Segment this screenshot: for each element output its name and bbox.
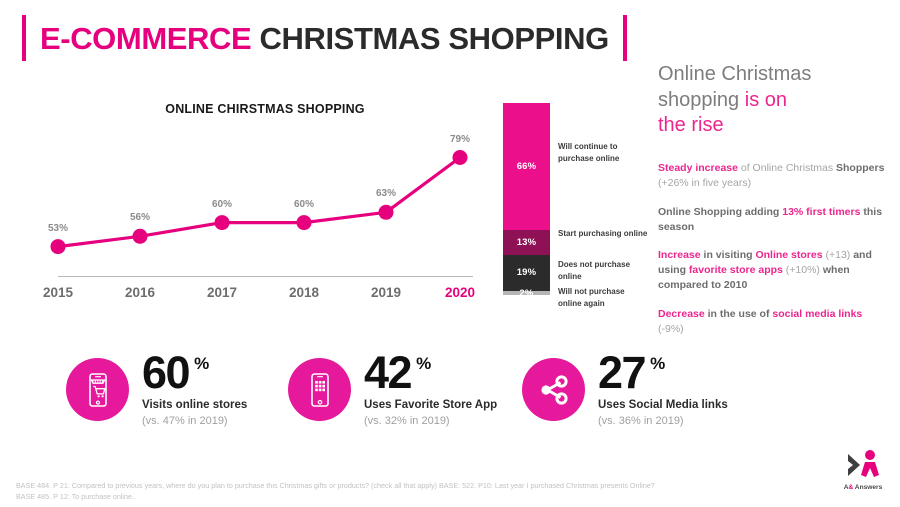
insights-heading-line3-accent: the rise bbox=[658, 114, 724, 136]
page-title: E-COMMERCE CHRISTMAS SHOPPING bbox=[40, 23, 609, 54]
x-axis-label-2017: 2017 bbox=[207, 285, 237, 300]
stat-body: 27%Uses Social Media links(vs. 36% in 20… bbox=[598, 352, 728, 427]
insights-bullet-fragment: Increase bbox=[658, 249, 701, 261]
stat-label: Uses Favorite Store App bbox=[364, 399, 497, 411]
insights-bullet-fragment: of Online Christmas bbox=[738, 162, 836, 174]
stacked-bar-segment[interactable]: 2% bbox=[503, 291, 550, 295]
insights-bullet-list: Steady increase of Online Christmas Shop… bbox=[658, 161, 888, 337]
insights-heading-line2-accent: is on bbox=[745, 89, 787, 111]
insights-bullet-fragment: Decrease bbox=[658, 308, 705, 320]
insights-heading-line2: shopping bbox=[658, 89, 739, 111]
stacked-bar-legend-item: Will not purchase online again bbox=[558, 286, 650, 309]
x-axis-label-2015: 2015 bbox=[43, 285, 73, 300]
stacked-bar: 66%13%19%2% bbox=[503, 103, 550, 295]
line-chart-point-label: 79% bbox=[450, 134, 470, 145]
x-axis-label-2016: 2016 bbox=[125, 285, 155, 300]
stacked-bar-segment-value: 19% bbox=[517, 267, 537, 278]
stat-number-row: 42% bbox=[364, 352, 497, 393]
insights-bullet-fragment: (+26% in five years) bbox=[658, 177, 751, 189]
insights-bullet-fragment: (+13) bbox=[823, 249, 854, 261]
brand-logo: A& Answers bbox=[838, 448, 888, 496]
line-chart-point[interactable] bbox=[297, 215, 312, 230]
insights-bullet-fragment: Steady increase bbox=[658, 162, 738, 174]
insights-bullet-fragment: Online Shopping adding bbox=[658, 206, 782, 218]
stacked-bar-panel: 66%13%19%2% Will continue to purchase on… bbox=[503, 103, 653, 303]
line-chart-panel: ONLINE CHIRSTMAS SHOPPING 53%56%60%60%63… bbox=[40, 95, 490, 310]
stat-number-row: 27% bbox=[598, 352, 728, 393]
stat-label: Uses Social Media links bbox=[598, 399, 728, 411]
stat-percent-sign: % bbox=[416, 355, 431, 372]
insights-bullet-fragment: Shoppers bbox=[836, 162, 884, 174]
stat-sublabel: (vs. 32% in 2019) bbox=[364, 415, 497, 427]
footer-notes: BASE 484. P 21: Compared to previous yea… bbox=[16, 480, 776, 502]
line-chart-plot bbox=[40, 125, 490, 280]
insights-bullet-fragment: (+10%) bbox=[783, 264, 823, 276]
insights-bullet-fragment: social media links bbox=[772, 308, 862, 320]
footer-line-2: BASE 485. P 12: To purchase online.. bbox=[16, 491, 776, 502]
stat-body: 60%Visits online stores(vs. 47% in 2019) bbox=[142, 352, 247, 427]
x-axis-tick-labels: 201520162017201820192020 bbox=[40, 283, 490, 307]
stat-number: 27 bbox=[598, 352, 645, 393]
line-chart-point[interactable] bbox=[215, 215, 230, 230]
insights-bullet-fragment: in the use of bbox=[705, 308, 773, 320]
insights-heading: Online Christmas shopping is on the rise bbox=[658, 62, 888, 139]
stacked-bar-legend-item: Does not purchase online bbox=[558, 259, 650, 282]
line-chart-point-label: 60% bbox=[212, 199, 232, 210]
insights-bullet-fragment: in visiting bbox=[701, 249, 756, 261]
line-chart-point[interactable] bbox=[453, 150, 468, 165]
stacked-bar-segment-value: 13% bbox=[517, 237, 537, 248]
mobile-app-grid-icon bbox=[288, 358, 351, 421]
line-chart-point-label: 60% bbox=[294, 199, 314, 210]
share-nodes-icon bbox=[522, 358, 585, 421]
brand-logo-rest: Answers bbox=[853, 484, 882, 491]
insights-bullet-fragment: Online stores bbox=[755, 249, 822, 261]
stat-label: Visits online stores bbox=[142, 399, 247, 411]
stacked-bar-segment-value: 2% bbox=[519, 288, 533, 299]
insights-bullet-fragment: favorite store apps bbox=[689, 264, 783, 276]
stats-row: 60%Visits online stores(vs. 47% in 2019)… bbox=[0, 352, 900, 452]
insights-bullet-fragment: (-9%) bbox=[658, 323, 684, 335]
line-chart-point-label: 56% bbox=[130, 212, 150, 223]
online-store-phone-icon bbox=[66, 358, 129, 421]
insights-heading-line1: Online Christmas bbox=[658, 63, 811, 85]
stacked-bar-segment[interactable]: 66% bbox=[503, 103, 550, 230]
insights-bullet: Increase in visiting Online stores (+13)… bbox=[658, 248, 888, 293]
insights-bullet: Decrease in the use of social media link… bbox=[658, 307, 888, 337]
line-chart-series-path bbox=[58, 158, 460, 247]
stacked-bar-legend-item: Start purchasing online bbox=[558, 228, 650, 240]
stat-sublabel: (vs. 36% in 2019) bbox=[598, 415, 728, 427]
stat-sublabel: (vs. 47% in 2019) bbox=[142, 415, 247, 427]
stat-card: 27%Uses Social Media links(vs. 36% in 20… bbox=[522, 352, 728, 427]
page-header: E-COMMERCE CHRISTMAS SHOPPING bbox=[0, 8, 660, 68]
stacked-bar-segment-value: 66% bbox=[517, 161, 537, 172]
line-chart-svg bbox=[40, 125, 490, 280]
page-title-pink: E-COMMERCE bbox=[40, 21, 251, 56]
stacked-bar-segment[interactable]: 13% bbox=[503, 230, 550, 255]
stat-percent-sign: % bbox=[650, 355, 665, 372]
insights-bullet-fragment: 13% first timers bbox=[782, 206, 860, 218]
insights-bullet: Online Shopping adding 13% first timers … bbox=[658, 205, 888, 235]
brand-logo-text: A& Answers bbox=[838, 484, 888, 491]
stat-body: 42%Uses Favorite Store App(vs. 32% in 20… bbox=[364, 352, 497, 427]
x-axis-label-2019: 2019 bbox=[371, 285, 401, 300]
page-title-dark: CHRISTMAS SHOPPING bbox=[260, 21, 609, 56]
line-chart-title: ONLINE CHIRSTMAS SHOPPING bbox=[40, 102, 490, 116]
insights-bullet: Steady increase of Online Christmas Shop… bbox=[658, 161, 888, 191]
brand-logo-mark bbox=[838, 448, 888, 484]
title-rule-right bbox=[623, 15, 627, 61]
line-chart-point-label: 63% bbox=[376, 188, 396, 199]
stat-percent-sign: % bbox=[194, 355, 209, 372]
line-chart-point-label: 53% bbox=[48, 223, 68, 234]
stacked-bar-segment[interactable]: 19% bbox=[503, 255, 550, 291]
stat-card: 60%Visits online stores(vs. 47% in 2019) bbox=[66, 352, 247, 427]
line-chart-point[interactable] bbox=[379, 205, 394, 220]
x-axis-label-2020: 2020 bbox=[445, 285, 475, 300]
footer-line-1: BASE 484. P 21: Compared to previous yea… bbox=[16, 480, 776, 491]
line-chart-point[interactable] bbox=[133, 229, 148, 244]
x-axis-label-2018: 2018 bbox=[289, 285, 319, 300]
stat-card: 42%Uses Favorite Store App(vs. 32% in 20… bbox=[288, 352, 497, 427]
stat-number: 60 bbox=[142, 352, 189, 393]
insights-panel: Online Christmas shopping is on the rise… bbox=[658, 62, 888, 351]
title-rule-left bbox=[22, 15, 26, 61]
x-axis-line bbox=[58, 276, 473, 277]
stat-number: 42 bbox=[364, 352, 411, 393]
stacked-bar-legend-item: Will continue to purchase online bbox=[558, 141, 650, 164]
line-chart-point[interactable] bbox=[51, 239, 66, 254]
stat-number-row: 60% bbox=[142, 352, 247, 393]
